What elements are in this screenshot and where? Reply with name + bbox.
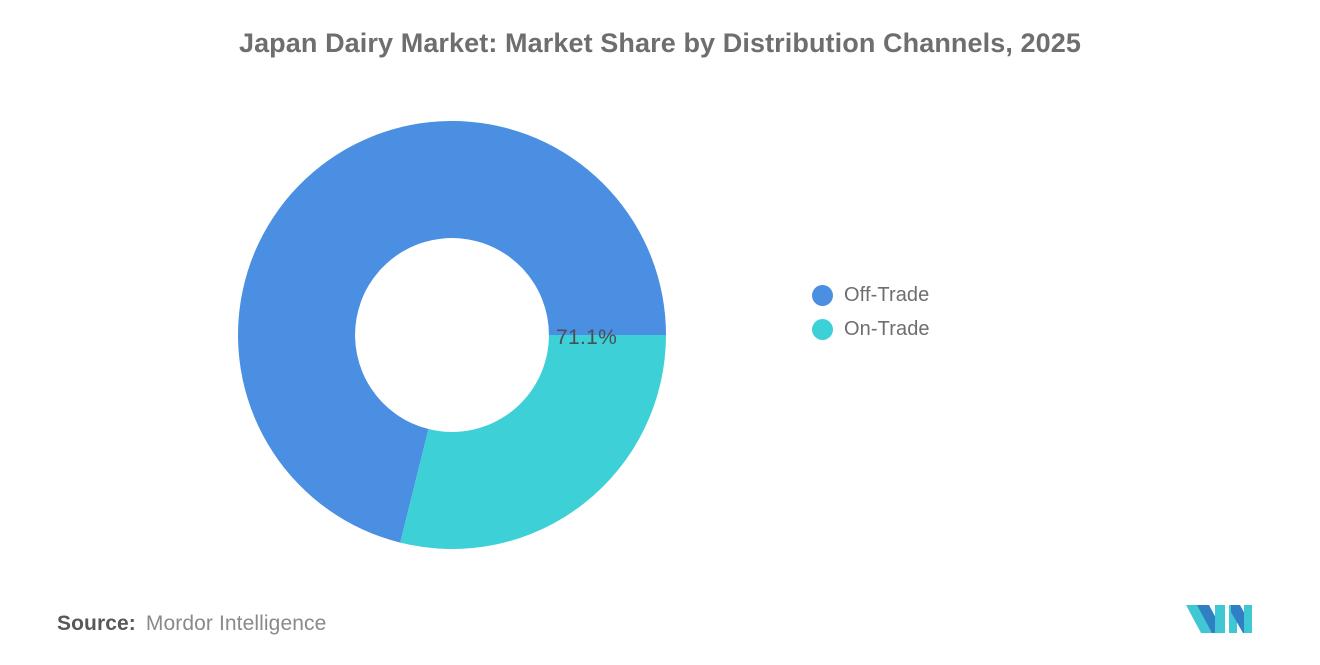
donut-slice-on-trade[interactable] [400,335,666,549]
chart-legend: Off-Trade On-Trade [812,283,930,341]
page-title: Japan Dairy Market: Market Share by Dist… [0,28,1320,59]
donut-slice-label-off-trade: 71.1% [556,326,617,350]
legend-item-on-trade[interactable]: On-Trade [812,317,930,341]
source-line: Source: Mordor Intelligence [57,612,326,636]
legend-item-off-trade[interactable]: Off-Trade [812,283,930,307]
legend-swatch-on-trade-icon [812,319,833,340]
legend-label-off-trade: Off-Trade [844,284,929,307]
logo-svg [1184,599,1252,639]
donut-chart: 71.1% [238,121,666,549]
source-value: Mordor Intelligence [146,612,327,636]
mordor-intelligence-logo-icon [1184,599,1252,639]
legend-label-on-trade: On-Trade [844,318,930,341]
legend-swatch-off-trade-icon [812,285,833,306]
source-label: Source: [57,612,136,636]
